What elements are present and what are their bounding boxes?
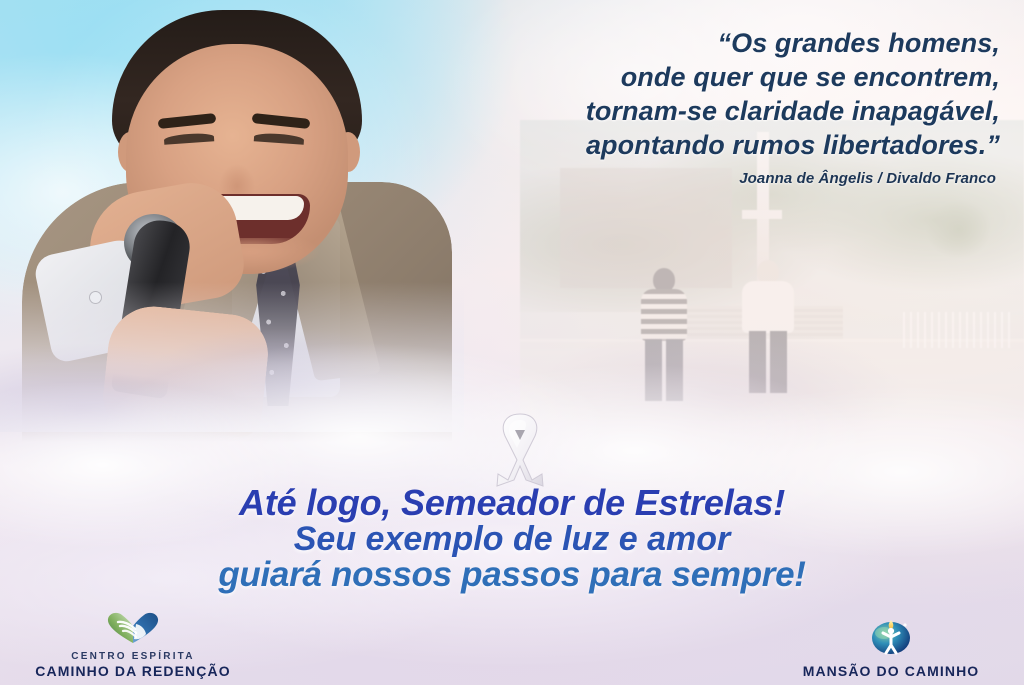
globe-figure-flame-icon <box>766 612 1016 661</box>
figure-legs <box>645 339 683 401</box>
logo-right-line-1: MANSÃO DO CAMINHO <box>766 663 1016 679</box>
scene-fence <box>903 312 1014 348</box>
figure-torso <box>641 289 687 341</box>
hands-heart-icon <box>8 610 258 649</box>
background-scene <box>520 120 1024 420</box>
quote-line-1: “Os grandes homens, <box>400 26 1000 60</box>
quote-line-4: apontando rumos libertadores.” <box>400 128 1000 162</box>
headline-line-1: Até logo, Semeador de Estrelas! <box>0 485 1024 521</box>
memorial-poster: “Os grandes homens, onde quer que se enc… <box>0 0 1024 685</box>
quote-attribution: Joanna de Ângelis / Divaldo Franco <box>396 170 996 187</box>
scene-figure-striped-shirt <box>641 268 687 402</box>
scene-palm <box>913 198 1004 288</box>
figure-torso <box>742 281 794 333</box>
logo-centro-espirita: CENTRO ESPÍRITA CAMINHO DA REDENÇÃO <box>8 610 258 679</box>
scene-figure-white-shirt <box>742 260 794 402</box>
figure-legs <box>749 331 787 393</box>
logo-mansao-do-caminho: MANSÃO DO CAMINHO <box>766 612 1016 679</box>
quote-block: “Os grandes homens, onde quer que se enc… <box>400 26 1000 162</box>
scene-obelisk-crossbar <box>742 210 782 219</box>
portrait-photo <box>0 0 464 432</box>
quote-line-2: onde quer que se encontrem, <box>400 60 1000 94</box>
portrait-bottom-fade <box>0 282 464 432</box>
headline-block: Até logo, Semeador de Estrelas! Seu exem… <box>0 485 1024 593</box>
headline-line-2: Seu exemplo de luz e amor <box>0 521 1024 557</box>
quote-line-3: tornam-se claridade inapagável, <box>400 94 1000 128</box>
logo-left-line-1: CENTRO ESPÍRITA <box>8 651 258 663</box>
white-mourning-ribbon-icon <box>484 408 556 490</box>
headline-line-3: guiará nossos passos para sempre! <box>0 557 1024 593</box>
logo-left-line-2: CAMINHO DA REDENÇÃO <box>8 663 258 679</box>
